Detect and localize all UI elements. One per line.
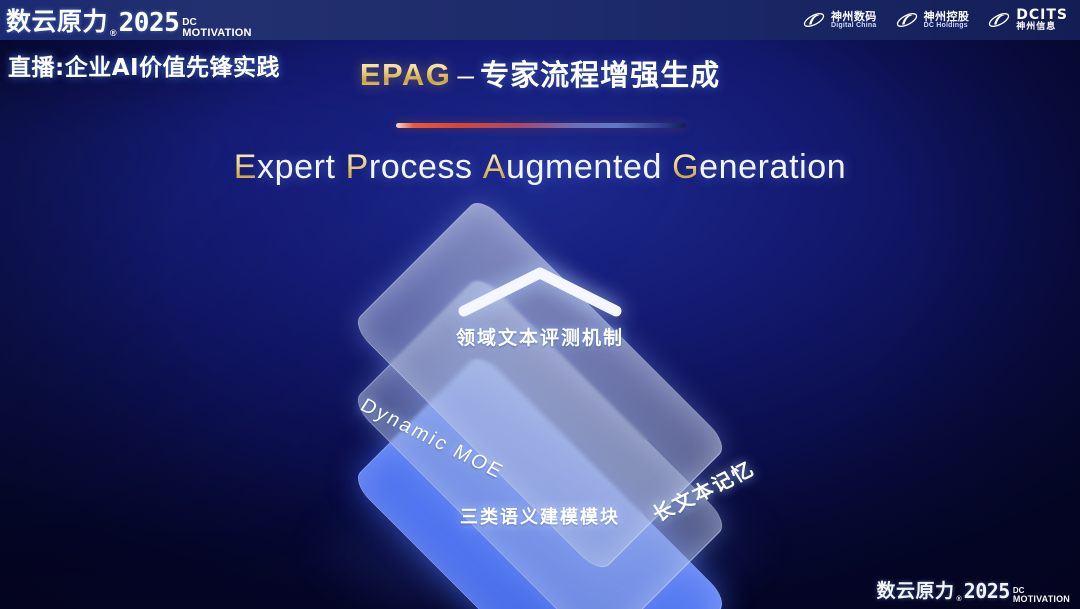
watermark-name-cn: 数云原力	[876, 576, 954, 603]
swirl-icon	[802, 9, 826, 31]
subtitle-rest-process: rocess	[369, 148, 473, 186]
subtitle-rest-expert: xpert	[257, 148, 336, 186]
brand-logo: 数云原力 ® 2025 DC MOTIVATION	[6, 2, 252, 38]
subtitle-initial-g: G	[672, 148, 699, 186]
swirl-icon	[895, 9, 919, 31]
isometric-layer-diagram: 领域文本评测机制 Dynamic MOE 长文本记忆 三类语义建模模块	[280, 215, 800, 585]
subtitle-initial-a: A	[483, 148, 506, 186]
partner-name-en: Digital China	[831, 22, 877, 29]
partner-logo-text: DCITS 神州信息	[1016, 8, 1068, 32]
partner-logo-text: 神州数码 Digital China	[831, 11, 877, 30]
subtitle-space	[336, 148, 346, 186]
header-bar: 数云原力 ® 2025 DC MOTIVATION 神州数码 Digital C…	[0, 0, 1080, 40]
subtitle-space	[662, 148, 672, 186]
subtitle-rest-augmented: ugmented	[506, 148, 662, 186]
subtitle-initial-e: E	[234, 148, 257, 186]
partner-name-cn: 神州控股	[924, 11, 970, 23]
partner-logo-dc-holdings: 神州控股 DC Holdings	[895, 9, 970, 31]
partner-logo-text: 神州控股 DC Holdings	[924, 11, 970, 30]
title-divider	[396, 123, 686, 128]
swirl-icon	[987, 9, 1011, 31]
brand-name-cn: 数云原力	[6, 2, 108, 38]
subtitle-initial-p: P	[346, 148, 369, 186]
partner-logo-dcits: DCITS 神州信息	[987, 8, 1068, 32]
brand-year: 2025	[119, 8, 180, 38]
partner-logo-group: 神州数码 Digital China 神州控股 DC Holdings	[802, 8, 1072, 32]
partner-name-en: 神州信息	[1016, 23, 1068, 32]
title-dash: –	[457, 59, 474, 92]
diagram-layer-bottom-label: 三类语义建模模块	[280, 503, 800, 529]
watermark-year: 2025	[964, 579, 1010, 603]
slide-stage: 数云原力 ® 2025 DC MOTIVATION 神州数码 Digital C…	[0, 0, 1080, 609]
subtitle-rest-generation: eneration	[699, 148, 846, 186]
live-stream-banner: 直播:企业AI价值先锋实践	[8, 48, 280, 82]
brand-motivation-label: MOTIVATION	[182, 28, 251, 38]
title-chinese: 专家流程增强生成	[480, 58, 720, 92]
registered-mark-icon: ®	[110, 28, 117, 38]
partner-logo-digital-china: 神州数码 Digital China	[802, 9, 877, 31]
title-acronym: EPAG	[360, 57, 452, 92]
diagram-layer-top-label: 领域文本评测机制	[280, 323, 800, 350]
subtitle-space	[473, 148, 483, 186]
subtitle: Expert Process Augmented Generation	[0, 148, 1080, 187]
watermark-motivation-label: MOTIVATION	[1013, 595, 1070, 603]
partner-name-cn: DCITS	[1016, 8, 1068, 23]
brand-watermark: 数云原力 ® 2025 DC MOTIVATION	[876, 576, 1070, 603]
partner-name-en: DC Holdings	[924, 22, 970, 29]
partner-name-cn: 神州数码	[831, 11, 877, 23]
watermark-dc-motivation: DC MOTIVATION	[1013, 587, 1070, 603]
brand-dc-motivation: DC MOTIVATION	[182, 18, 251, 38]
watermark-registered-mark-icon: ®	[956, 596, 961, 603]
